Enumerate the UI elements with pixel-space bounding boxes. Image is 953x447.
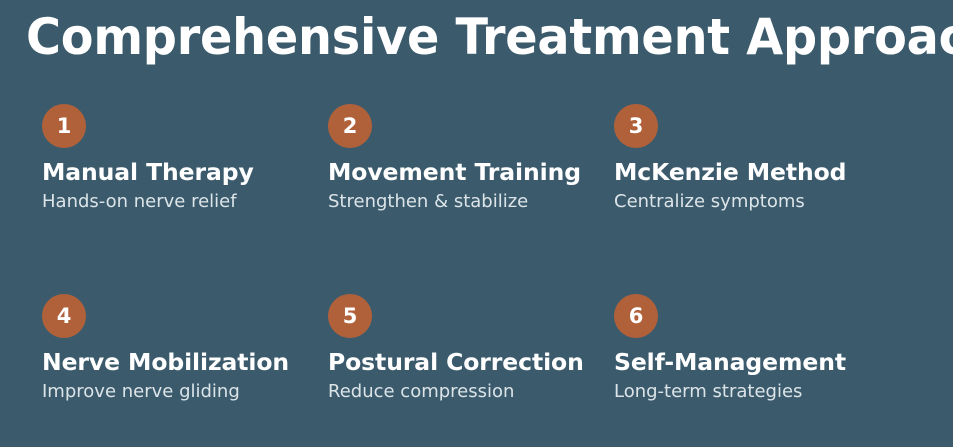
treatment-steps-grid: 1 Manual Therapy Hands-on nerve relief 2… (0, 96, 953, 436)
treatment-step-1[interactable]: 1 Manual Therapy Hands-on nerve relief (42, 96, 342, 256)
step-subtitle-1: Hands-on nerve relief (42, 190, 237, 214)
step-subtitle-5: Reduce compression (328, 380, 514, 404)
step-title-4: Nerve Mobilization (42, 348, 289, 376)
treatment-step-4[interactable]: 4 Nerve Mobilization Improve nerve glidi… (42, 286, 342, 446)
step-number-badge-2: 2 (328, 104, 372, 148)
page-title: Comprehensive Treatment Approach (26, 8, 953, 66)
step-subtitle-4: Improve nerve gliding (42, 380, 240, 404)
step-number-badge-4: 4 (42, 294, 86, 338)
step-number-badge-1: 1 (42, 104, 86, 148)
treatment-step-6[interactable]: 6 Self-Management Long-term strategies (614, 286, 914, 446)
step-title-5: Postural Correction (328, 348, 584, 376)
step-subtitle-6: Long-term strategies (614, 380, 802, 404)
step-title-2: Movement Training (328, 158, 581, 186)
treatment-approach-slide: Comprehensive Treatment Approach 1 Manua… (0, 0, 953, 447)
step-number-badge-3: 3 (614, 104, 658, 148)
step-title-1: Manual Therapy (42, 158, 254, 186)
treatment-step-5[interactable]: 5 Postural Correction Reduce compression (328, 286, 628, 446)
step-subtitle-2: Strengthen & stabilize (328, 190, 528, 214)
step-title-6: Self-Management (614, 348, 846, 376)
treatment-step-3[interactable]: 3 McKenzie Method Centralize symptoms (614, 96, 914, 256)
step-number-badge-6: 6 (614, 294, 658, 338)
steps-row-top: 1 Manual Therapy Hands-on nerve relief 2… (0, 96, 953, 256)
step-number-badge-5: 5 (328, 294, 372, 338)
step-subtitle-3: Centralize symptoms (614, 190, 805, 214)
treatment-step-2[interactable]: 2 Movement Training Strengthen & stabili… (328, 96, 628, 256)
steps-row-bottom: 4 Nerve Mobilization Improve nerve glidi… (0, 286, 953, 446)
step-title-3: McKenzie Method (614, 158, 846, 186)
